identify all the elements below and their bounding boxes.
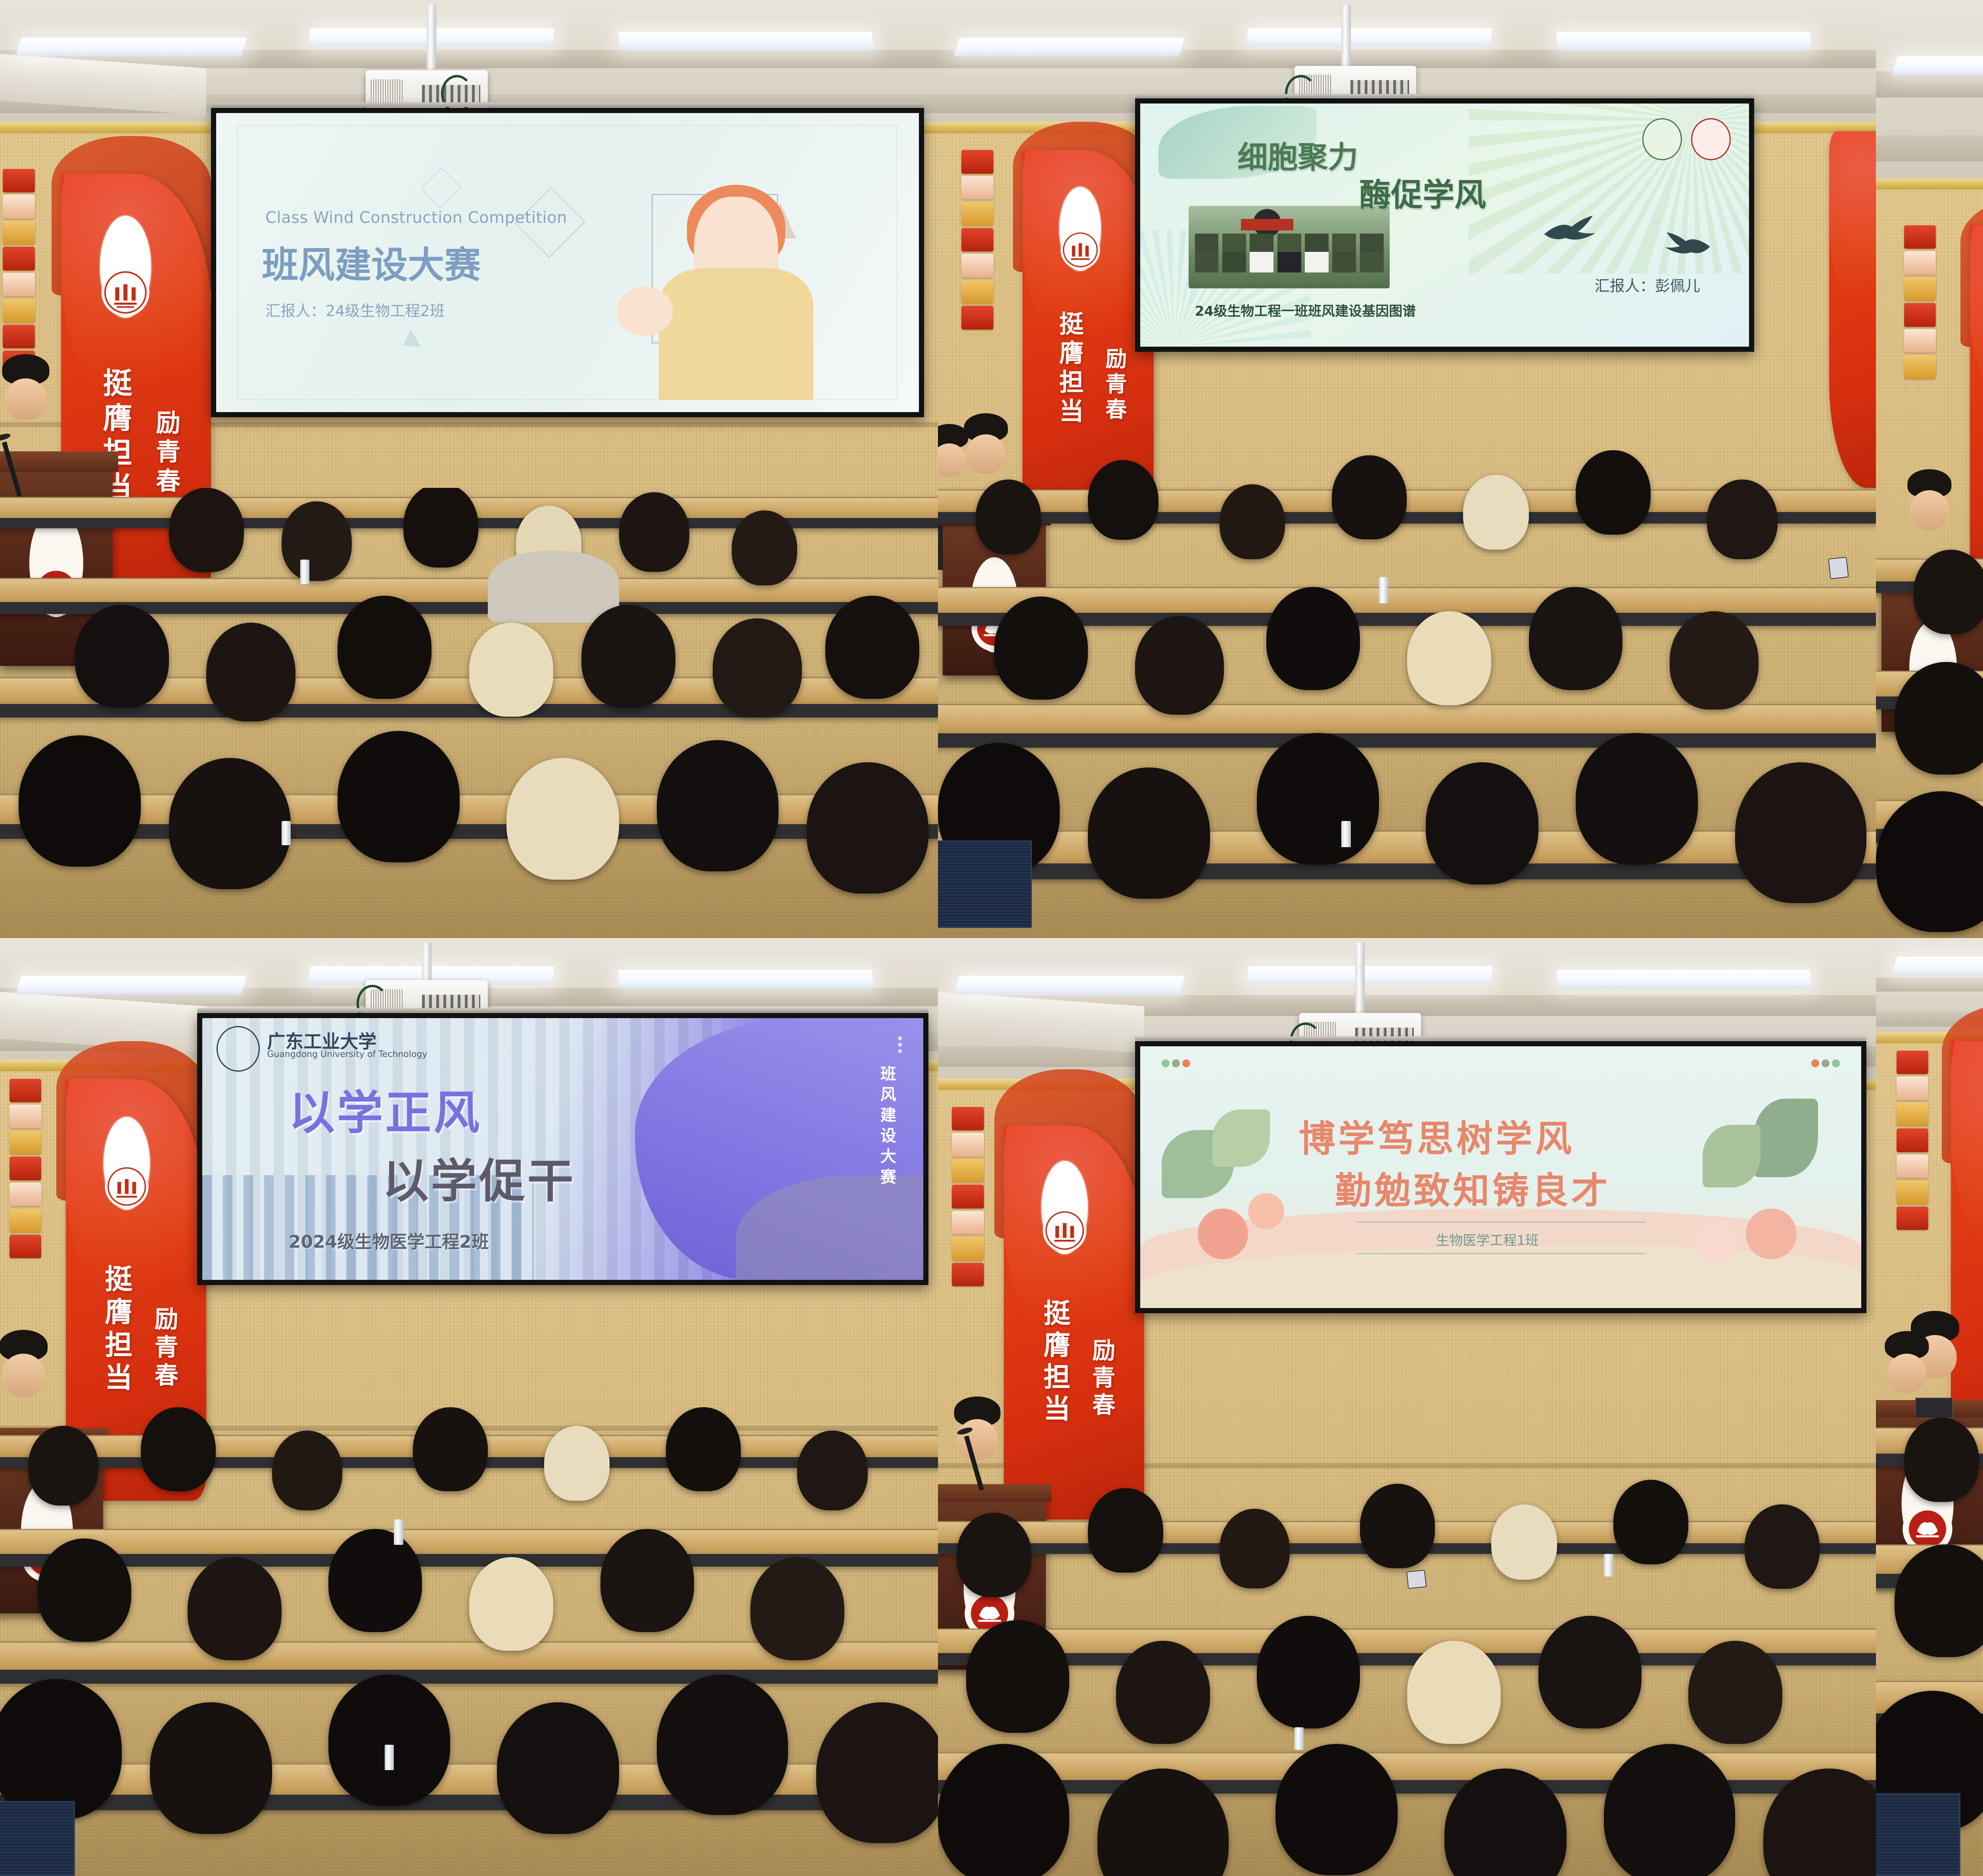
leaf-decor [1753,1099,1818,1177]
ceiling-light [1556,970,1811,988]
audience-head [657,740,779,871]
audience-head [816,1702,938,1843]
audience-head [1613,1480,1688,1564]
audience-head [1904,1418,1979,1502]
event-banner-right [1829,131,1876,488]
audience-head [1491,1504,1557,1579]
gdut-badge-icon [1691,118,1731,160]
audience-area [938,1463,1876,1876]
screen-housing [211,102,924,107]
desk-row [938,1752,1876,1794]
audience-area [1876,1388,1983,1876]
audience-head [338,731,459,862]
ceiling-light [618,32,873,50]
gdut-seal-icon [104,1117,150,1210]
collage-panel-2: 挺膺担当 励青春 [938,0,1876,938]
screen-housing [1135,94,1754,98]
blossom-decor [1695,1219,1739,1262]
projection-screen: 细胞聚力 酶促学风 24级生物工程一班班风建设基因图谱 汇报人：彭佩儿 [1140,104,1749,347]
slide-eyebrow: Class Wind Construction Competition [265,209,567,227]
wall-hanging-decor [1897,1051,1928,1230]
ceiling-light [1247,28,1492,47]
audience-head [1088,767,1210,899]
ceiling-light [954,976,1185,994]
audience-area [1876,506,1983,938]
projection-screen-frame: 广东工业大学 Guangdong University of Technolog… [197,1013,929,1285]
ceiling-light [1892,957,1983,975]
phone-recording[interactable] [1406,1570,1427,1589]
slide-class: 2024级生物医学工程2班 [289,1228,489,1253]
banner-line-2: 励青春 [148,410,184,497]
divider-top [1356,1222,1645,1223]
ceiling-light [954,38,1185,56]
audience-head [619,492,689,572]
audience-head [657,1675,788,1815]
audience-area [0,488,938,938]
ceiling [1876,0,1983,188]
window-dots-right [1811,1059,1840,1067]
photo-backdrop [1241,219,1293,230]
slide-title-line1: 博学笃思树学风 [1299,1109,1575,1162]
audience-head [1745,1504,1820,1589]
water-bottle [282,821,291,845]
audience-head [169,758,291,889]
slide-title-line2: 酶促学风 [1359,169,1486,215]
audience-head [328,1675,450,1806]
screen-housing [197,1008,929,1013]
swallow-bird-icon [1645,230,1725,269]
wall-hanging-decor [952,1107,984,1287]
audience-head [1576,733,1697,864]
audience-head [1407,611,1492,705]
school-badge-icon [1642,118,1682,160]
gdut-seal-icon [100,216,151,318]
audience-head [750,1557,844,1660]
ceiling-light [16,38,247,56]
phone-recording[interactable] [1828,556,1849,579]
audience-head [825,596,919,699]
audience-head [966,1620,1069,1733]
collage-panel-5: 挺膺担当 励青春 [938,938,1876,1876]
slide-title: 班风建设大赛 [262,236,481,288]
blossom-decor [1746,1208,1796,1259]
slide-content-4: 广东工业大学 Guangdong University of Technolog… [202,1018,924,1280]
audience-head [1407,1641,1501,1744]
water-bottle [1341,821,1351,847]
audience-head [1604,1744,1735,1876]
illustration-body [659,269,813,400]
speaker-head [5,378,47,420]
desk-row [0,794,938,839]
event-banner: 挺膺担当 励青春 [1004,1126,1145,1519]
banner-line-2: 励青春 [1099,347,1130,423]
slide-content-5: 博学笃思树学风 勤勉致知铸良才 生物医学工程1班 [1140,1046,1862,1308]
audience-head [1529,587,1623,690]
audience-head [413,1407,488,1492]
slide-side-vertical: 班风建设大赛 [875,1065,898,1189]
leaf-decor [1703,1125,1760,1187]
audience-laptop[interactable] [938,840,1032,928]
audience-head [938,1744,1069,1876]
audience-head [1735,762,1866,903]
audience-head [506,758,619,880]
desk-row [938,704,1876,748]
divider-bottom [1356,1253,1645,1254]
audience-shoulders [488,551,619,623]
audience-head [976,480,1041,554]
audience-head [1220,484,1285,559]
audience-head [38,1538,132,1642]
audience-head [1914,550,1983,634]
slide-title-line1: 细胞聚力 [1237,133,1358,176]
wall-trim [1876,178,1983,189]
audience-area [0,1407,938,1876]
audience-head [497,1702,619,1834]
projection-screen: Class Wind Construction Competition 班风建设… [216,113,919,412]
audience-head [600,1529,694,1632]
window-dots-left [1162,1059,1190,1067]
audience-head [0,1679,122,1820]
collage-panel-3: 挺膺担当 励青春 广东工业大学 Guangdong University of … [1876,0,1983,938]
speaker-head [2,1354,45,1397]
slide-title-line2: 以学促干 [382,1144,575,1210]
audience-head [75,605,169,708]
ceiling-light [16,976,247,994]
slide-presenter: 汇报人：彭佩儿 [1595,274,1700,295]
audience-head [1220,1509,1290,1588]
audience-head [1426,762,1538,884]
ceiling-light [1892,56,1983,75]
audience-head [403,488,478,568]
wall-hanging-decor [10,1079,41,1258]
slide-title-line2: 勤勉致知铸良才 [1335,1161,1611,1214]
blossom-decor [1248,1193,1284,1229]
banner-line-1: 挺膺担当 [1035,1299,1074,1426]
audience-head [1332,455,1407,540]
slide-content-1: Class Wind Construction Competition 班风建设… [216,113,919,412]
audience-head [1538,1616,1642,1728]
speaker-head [1887,1354,1926,1393]
audience-head [1257,1616,1360,1728]
leaf-decor [1212,1109,1270,1167]
banner-line-1: 挺膺担当 [97,1264,137,1395]
audience-head [957,1513,1032,1597]
audience-head [1135,616,1224,714]
audience-head [206,623,295,721]
desk-row [0,578,938,614]
podium-top [0,451,118,472]
audience-head [1707,480,1777,559]
gdut-seal-icon [217,1026,260,1072]
audience-head [469,1557,554,1651]
audience-head [1576,450,1651,535]
slide-header-en: Guangdong University of Technology [267,1049,427,1059]
slide-class: 生物医学工程1班 [1436,1230,1539,1249]
audience-head [188,1557,282,1660]
gdut-seal-icon [1059,187,1101,271]
class-group-photo [1189,206,1390,288]
water-bottle [1295,1727,1304,1749]
water-bottle [385,1745,394,1770]
audience-head [1088,1488,1163,1573]
audience-head [338,596,432,699]
audience-head [581,605,675,708]
audience-head [807,762,928,894]
audience-head [272,1431,342,1510]
water-bottle [1604,1554,1613,1576]
blossom-decor [1198,1208,1248,1259]
audience-head [994,597,1088,700]
audience-head [1088,460,1158,540]
gdut-seal-icon [1041,1161,1088,1254]
audience-head [1360,1484,1435,1568]
slide-subtitle: 汇报人：24级生物工程2班 [265,299,445,320]
audience-head [328,1529,422,1632]
audience-head [544,1426,610,1501]
projection-screen-frame: 博学笃思树学风 勤勉致知铸良才 生物医学工程1班 [1135,1041,1867,1313]
projection-screen: 广东工业大学 Guangdong University of Technolog… [202,1018,924,1280]
audience-head [1463,475,1529,550]
collage-panel-4: 挺膺担当 励青春 广东工业大学 Guangdong University of … [0,938,938,1876]
audience-head [28,1426,98,1506]
ceiling-light [618,970,873,988]
audience-head [282,501,352,581]
collage-panel-1: 挺膺担当 励青春 [0,0,938,938]
projection-screen-frame: Class Wind Construction Competition 班风建设… [211,108,924,417]
swallow-bird-icon [1530,213,1615,257]
screen-housing [1135,1036,1867,1041]
audience-head [169,488,244,572]
audience-area [938,450,1876,938]
audience-laptop[interactable] [1876,1793,1960,1876]
audience-head [666,1407,741,1492]
slide-content-2: 细胞聚力 酶促学风 24级生物工程一班班风建设基因图谱 汇报人：彭佩儿 [1140,104,1749,347]
audience-head [1670,611,1759,710]
audience-head [732,510,798,585]
banner-line-1: 挺膺担当 [1051,311,1087,427]
wall-hanging-decor [1904,225,1936,379]
audience-head [713,618,802,717]
audience-head [1688,1641,1782,1744]
audience-head [469,623,554,717]
audience-laptop[interactable] [0,1801,75,1876]
photo-collage-grid: 挺膺担当 励青春 [0,0,1983,1876]
desk-row [0,1763,938,1810]
illustration-hand [617,287,673,336]
projection-screen: 博学笃思树学风 勤勉致知铸良才 生物医学工程1班 [1140,1046,1862,1308]
audience-head [1266,587,1360,690]
projection-screen-frame: 细胞聚力 酶促学风 24级生物工程一班班风建设基因图谱 汇报人：彭佩儿 [1135,98,1754,352]
ceiling-light [1247,966,1492,985]
audience-head [1275,1744,1397,1875]
collage-panel-6: 挺膺担当 励青春 以学正风 以学促干 生物医药学院2024级制药工程一班 团结 [1876,938,1983,1876]
audience-head [1257,733,1379,864]
slide-title-line1: 以学正风 [289,1076,482,1142]
banner-line-2: 励青春 [1085,1338,1118,1419]
banner-line-2: 励青春 [147,1306,182,1391]
slide-caption: 24级生物工程一班班风建设基因图谱 [1195,300,1416,320]
dot-decor [898,1036,902,1053]
water-bottle [1379,577,1388,603]
ceiling-light [1556,32,1811,50]
audience-head [19,735,140,867]
water-bottle [300,560,310,584]
wall-hanging-decor [3,169,35,374]
audience-head [141,1407,216,1492]
speaker-head [957,1419,998,1460]
water-bottle [394,1519,403,1545]
audience-head [1116,1641,1210,1744]
audience-head [797,1431,867,1510]
audience-head [150,1702,272,1834]
wall-hanging-decor [961,150,993,330]
